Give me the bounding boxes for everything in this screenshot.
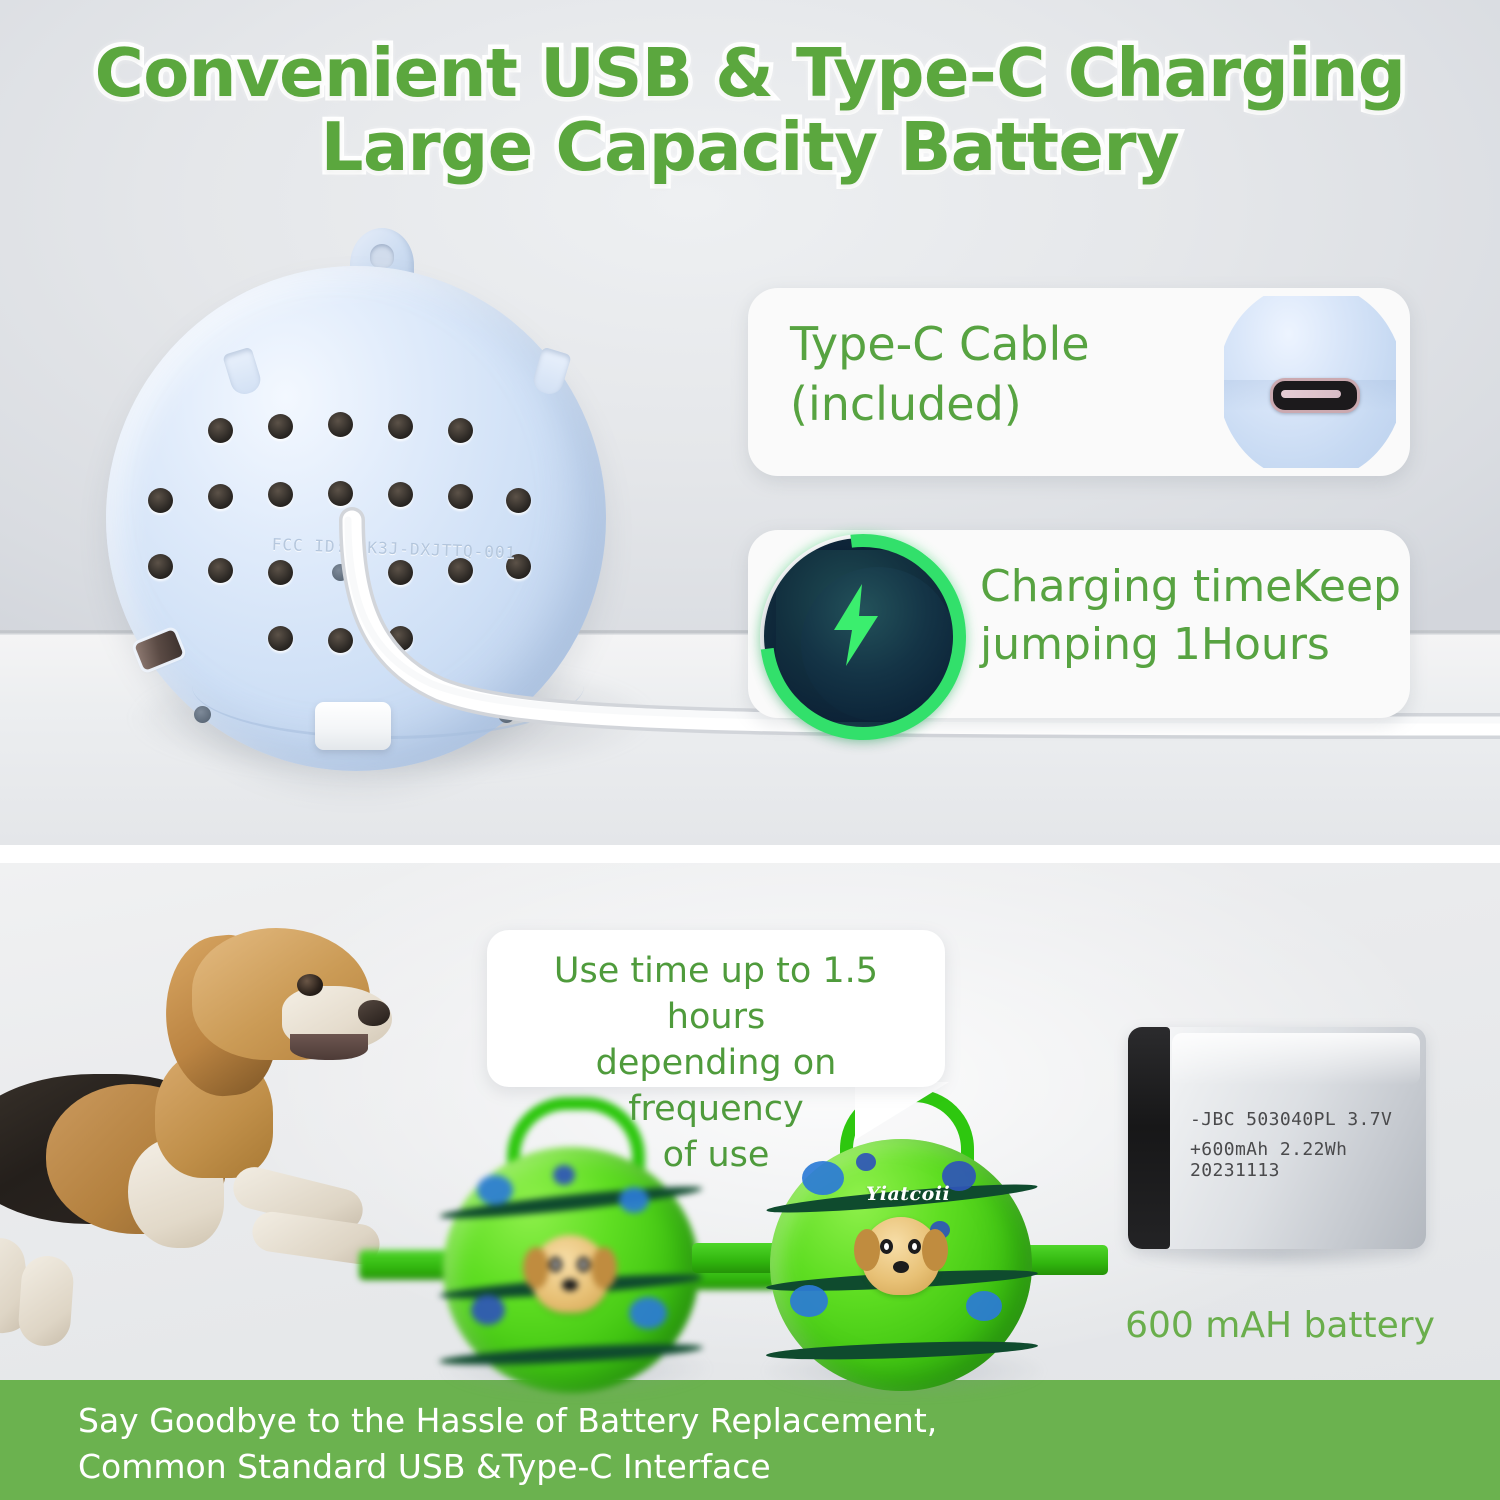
callout-line-1: Type-C Cable (790, 314, 1090, 374)
section-divider (0, 845, 1500, 863)
toy-brand-label: Yiatcoii (866, 1183, 950, 1205)
callout-line-2: jumping 1Hours (980, 616, 1401, 674)
lithium-battery-photo: -JBC 503040PL 3.7V +600mAh 2.22Wh 202311… (1128, 1027, 1426, 1262)
callout-card-type-c-cable[interactable]: Type-C Cable (included) (748, 288, 1410, 476)
battery-caption: 600 mAH battery (1090, 1305, 1470, 1346)
product-ball-shell: FCC ID:2BK3J-DXJTTQ-001 (106, 266, 606, 771)
usb-a-port-icon (134, 629, 183, 671)
headline-line-2: Large Capacity Battery (0, 110, 1500, 184)
page-title: Convenient USB & Type-C Charging Large C… (0, 36, 1500, 184)
usb-cable-plug (315, 702, 391, 750)
product-infographic: Convenient USB & Type-C Charging Large C… (0, 0, 1500, 1500)
top-section: Convenient USB & Type-C Charging Large C… (0, 0, 1500, 845)
callout-card-charging-time[interactable]: Charging timeKeep jumping 1Hours (748, 530, 1410, 718)
callout-text-charging-time: Charging timeKeep jumping 1Hours (980, 558, 1401, 674)
bubble-line-1: Use time up to 1.5 hours (505, 948, 927, 1040)
battery-label-line-1: -JBC 503040PL 3.7V (1190, 1109, 1392, 1130)
banner-text: Say Goodbye to the Hassle of Battery Rep… (78, 1398, 1078, 1490)
bubble-line-2: depending on frequency (505, 1040, 927, 1132)
battery-terminal-tab (1128, 1027, 1170, 1249)
callout-line-1: Charging timeKeep (980, 558, 1401, 616)
fcc-id-label: FCC ID:2BK3J-DXJTTQ-001 (234, 533, 554, 563)
vent-notch-left (222, 347, 264, 398)
speech-bubble-use-time[interactable]: Use time up to 1.5 hours depending on fr… (487, 930, 945, 1087)
type-c-port-icon (1270, 378, 1360, 413)
hanging-loop-hole (370, 244, 394, 268)
bubble-line-3: of use (505, 1132, 927, 1178)
banner-line-2: Common Standard USB &Type-C Interface (78, 1444, 1078, 1490)
headline-line-1: Convenient USB & Type-C Charging (0, 36, 1500, 110)
lightning-bolt-icon (826, 582, 886, 668)
product-ball-assembly: FCC ID:2BK3J-DXJTTQ-001 (78, 228, 698, 788)
callout-line-2: (included) (790, 374, 1090, 434)
speech-bubble-text: Use time up to 1.5 hours depending on fr… (505, 948, 927, 1178)
callout-text-type-c: Type-C Cable (included) (790, 314, 1090, 434)
vent-notch-right (530, 347, 572, 398)
battery-label-line-2: +600mAh 2.22Wh 20231113 (1190, 1139, 1426, 1181)
type-c-port-closeup-icon (1224, 296, 1396, 468)
